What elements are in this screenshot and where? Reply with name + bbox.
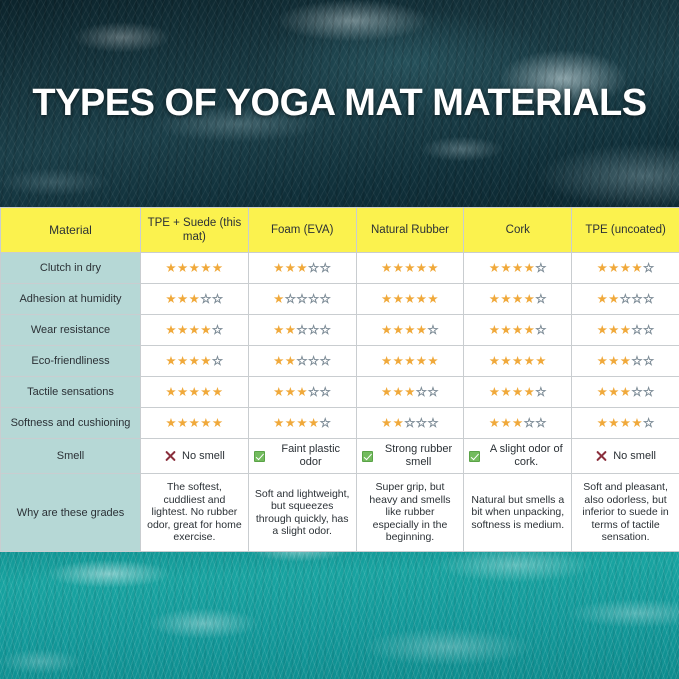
rating-cell-softness-and-cushioning-tpe-suede-this-mat: ★★★★★ (141, 408, 249, 439)
star-4: ☆ (416, 416, 428, 430)
star-2: ★ (500, 323, 512, 337)
star-4: ☆ (416, 385, 428, 399)
star-5: ★ (212, 261, 224, 275)
star-1: ★ (489, 416, 501, 430)
star-rating: ★★★★★ (381, 261, 439, 275)
row-label-softness-and-cushioning: Softness and cushioning (1, 408, 141, 439)
reason-cell-natural-rubber: Super grip, but heavy and smells like ru… (356, 474, 464, 552)
star-rating: ★★☆☆☆ (381, 416, 439, 430)
star-4: ★ (200, 354, 212, 368)
table-row-eco-friendliness: Eco-friendliness★★★★☆★★☆☆☆★★★★★★★★★★★★★☆… (1, 346, 679, 377)
rating-cell-tactile-sensations-natural-rubber: ★★★☆☆ (356, 377, 464, 408)
star-1: ★ (489, 323, 501, 337)
table-body: Clutch in dry★★★★★★★★☆☆★★★★★★★★★☆★★★★☆Ad… (1, 253, 679, 552)
yoga-mat-comparison-table: Material TPE + Suede (this mat) Foam (EV… (0, 207, 679, 552)
star-4: ★ (524, 261, 536, 275)
star-1: ★ (273, 292, 285, 306)
star-rating: ★★★☆☆ (489, 416, 547, 430)
rating-cell-wear-resistance-natural-rubber: ★★★★☆ (356, 315, 464, 346)
star-2: ★ (608, 354, 620, 368)
table-row-smell: SmellNo smellFaint plastic odorStrong ru… (1, 439, 679, 474)
star-4: ★ (524, 354, 536, 368)
star-1: ★ (489, 354, 501, 368)
star-5: ☆ (643, 385, 655, 399)
column-header-cork: Cork (464, 208, 572, 253)
star-1: ★ (165, 354, 177, 368)
table-row-tactile-sensations: Tactile sensations★★★★★★★★☆☆★★★☆☆★★★★☆★★… (1, 377, 679, 408)
star-2: ★ (393, 354, 405, 368)
star-1: ★ (273, 385, 285, 399)
star-3: ★ (189, 261, 201, 275)
star-4: ★ (524, 385, 536, 399)
rating-cell-eco-friendliness-tpe-uncoated: ★★★☆☆ (572, 346, 679, 377)
x-icon (164, 450, 176, 462)
rating-cell-clutch-in-dry-natural-rubber: ★★★★★ (356, 253, 464, 284)
star-2: ★ (608, 261, 620, 275)
star-rating: ★★★★★ (165, 416, 223, 430)
check-icon (469, 451, 480, 462)
rating-cell-tactile-sensations-cork: ★★★★☆ (464, 377, 572, 408)
star-2: ★ (500, 354, 512, 368)
star-1: ★ (597, 416, 609, 430)
star-5: ☆ (643, 354, 655, 368)
star-2: ★ (285, 385, 297, 399)
star-rating: ★★★★★ (381, 292, 439, 306)
star-2: ★ (393, 261, 405, 275)
rating-cell-adhesion-at-humidity-tpe-uncoated: ★★☆☆☆ (572, 284, 679, 315)
star-3: ★ (404, 261, 416, 275)
row-label-why-are-these-grades: Why are these grades (1, 474, 141, 552)
star-rating: ★★☆☆☆ (597, 292, 655, 306)
star-rating: ★★★★☆ (489, 261, 547, 275)
star-rating: ★★★★★ (165, 385, 223, 399)
rating-cell-tactile-sensations-foam-eva: ★★★☆☆ (248, 377, 356, 408)
smell-cell-tpe-uncoated: No smell (572, 439, 679, 474)
star-1: ★ (381, 385, 393, 399)
star-1: ★ (381, 292, 393, 306)
star-3: ★ (620, 323, 632, 337)
rating-cell-clutch-in-dry-foam-eva: ★★★☆☆ (248, 253, 356, 284)
star-4: ☆ (308, 292, 320, 306)
star-rating: ★★☆☆☆ (273, 323, 331, 337)
star-rating: ★★★★☆ (597, 261, 655, 275)
star-3: ★ (620, 416, 632, 430)
star-4: ★ (200, 323, 212, 337)
star-rating: ★★★★☆ (381, 323, 439, 337)
star-5: ☆ (320, 385, 332, 399)
smell-value: Strong rubber smell (360, 443, 461, 469)
star-5: ☆ (535, 323, 547, 337)
star-rating: ★★★★☆ (165, 354, 223, 368)
column-header-tpe-uncoated: TPE (uncoated) (572, 208, 679, 253)
star-4: ☆ (308, 385, 320, 399)
star-2: ★ (500, 292, 512, 306)
star-rating: ★★★★☆ (165, 323, 223, 337)
row-label-clutch-in-dry: Clutch in dry (1, 253, 141, 284)
table-row-adhesion-at-humidity: Adhesion at humidity★★★☆☆★☆☆☆☆★★★★★★★★★☆… (1, 284, 679, 315)
star-3: ★ (620, 261, 632, 275)
star-1: ★ (165, 385, 177, 399)
smell-value: A slight odor of cork. (467, 443, 568, 469)
star-rating: ★★★★☆ (489, 323, 547, 337)
star-3: ★ (512, 292, 524, 306)
column-header-foam-eva: Foam (EVA) (248, 208, 356, 253)
star-2: ★ (608, 292, 620, 306)
star-5: ☆ (427, 385, 439, 399)
star-3: ★ (189, 416, 201, 430)
smell-value: No smell (575, 450, 676, 463)
infographic-page: TYPES OF YOGA MAT MATERIALS Material TPE… (0, 0, 679, 679)
star-3: ★ (404, 354, 416, 368)
star-2: ★ (608, 385, 620, 399)
star-3: ☆ (620, 292, 632, 306)
star-5: ☆ (427, 416, 439, 430)
ocean-bottom-background (0, 533, 679, 679)
star-3: ☆ (296, 323, 308, 337)
star-3: ☆ (404, 416, 416, 430)
star-rating: ★★★☆☆ (597, 323, 655, 337)
star-1: ★ (597, 385, 609, 399)
star-4: ☆ (308, 261, 320, 275)
star-3: ★ (296, 261, 308, 275)
star-5: ☆ (320, 323, 332, 337)
star-4: ★ (416, 292, 428, 306)
page-title: TYPES OF YOGA MAT MATERIALS (0, 82, 679, 124)
star-5: ☆ (535, 416, 547, 430)
star-2: ★ (177, 416, 189, 430)
table-row-clutch-in-dry: Clutch in dry★★★★★★★★☆☆★★★★★★★★★☆★★★★☆ (1, 253, 679, 284)
rating-cell-wear-resistance-tpe-uncoated: ★★★☆☆ (572, 315, 679, 346)
star-rating: ★★★☆☆ (165, 292, 223, 306)
star-4: ★ (200, 261, 212, 275)
star-5: ☆ (643, 261, 655, 275)
rating-cell-adhesion-at-humidity-tpe-suede-this-mat: ★★★☆☆ (141, 284, 249, 315)
star-4: ☆ (631, 292, 643, 306)
smell-text: Faint plastic odor (271, 443, 351, 469)
star-rating: ★★☆☆☆ (273, 354, 331, 368)
reason-cell-tpe-uncoated: Soft and pleasant, also odorless, but in… (572, 474, 679, 552)
star-2: ★ (393, 323, 405, 337)
star-rating: ★★★★★ (381, 354, 439, 368)
star-2: ★ (177, 385, 189, 399)
row-label-wear-resistance: Wear resistance (1, 315, 141, 346)
rating-cell-wear-resistance-foam-eva: ★★☆☆☆ (248, 315, 356, 346)
rating-cell-clutch-in-dry-tpe-uncoated: ★★★★☆ (572, 253, 679, 284)
star-5: ★ (427, 354, 439, 368)
star-2: ★ (608, 323, 620, 337)
smell-cell-tpe-suede-this-mat: No smell (141, 439, 249, 474)
star-2: ★ (285, 261, 297, 275)
star-1: ★ (165, 323, 177, 337)
star-2: ★ (393, 416, 405, 430)
smell-value: No smell (144, 450, 245, 463)
check-icon (254, 451, 265, 462)
table-row-wear-resistance: Wear resistance★★★★☆★★☆☆☆★★★★☆★★★★☆★★★☆☆ (1, 315, 679, 346)
star-2: ★ (177, 323, 189, 337)
rating-cell-softness-and-cushioning-tpe-uncoated: ★★★★☆ (572, 408, 679, 439)
star-rating: ★★★★★ (165, 261, 223, 275)
check-icon (362, 451, 373, 462)
star-4: ☆ (200, 292, 212, 306)
star-1: ★ (273, 416, 285, 430)
smell-text: No smell (613, 450, 656, 463)
reason-cell-foam-eva: Soft and lightweight, but squeezes throu… (248, 474, 356, 552)
table-header: Material TPE + Suede (this mat) Foam (EV… (1, 208, 679, 253)
star-3: ★ (404, 385, 416, 399)
star-3: ★ (512, 261, 524, 275)
star-rating: ★★★★☆ (597, 416, 655, 430)
star-5: ☆ (535, 385, 547, 399)
star-rating: ★☆☆☆☆ (273, 292, 331, 306)
star-5: ★ (535, 354, 547, 368)
star-1: ★ (489, 385, 501, 399)
star-2: ★ (177, 292, 189, 306)
star-rating: ★★★★☆ (489, 292, 547, 306)
star-4: ★ (200, 385, 212, 399)
star-1: ★ (597, 261, 609, 275)
star-1: ★ (597, 323, 609, 337)
smell-text: No smell (182, 450, 225, 463)
star-1: ★ (273, 354, 285, 368)
star-1: ★ (165, 292, 177, 306)
star-1: ★ (381, 323, 393, 337)
star-rating: ★★★☆☆ (273, 385, 331, 399)
star-3: ★ (404, 292, 416, 306)
star-rating: ★★★★★ (489, 354, 547, 368)
star-1: ★ (165, 416, 177, 430)
star-3: ★ (512, 416, 524, 430)
star-2: ★ (393, 385, 405, 399)
star-3: ★ (189, 354, 201, 368)
rating-cell-tactile-sensations-tpe-suede-this-mat: ★★★★★ (141, 377, 249, 408)
star-1: ★ (489, 261, 501, 275)
row-label-tactile-sensations: Tactile sensations (1, 377, 141, 408)
star-5: ★ (427, 292, 439, 306)
star-2: ★ (608, 416, 620, 430)
star-1: ★ (273, 323, 285, 337)
star-2: ★ (500, 261, 512, 275)
column-header-natural-rubber: Natural Rubber (356, 208, 464, 253)
star-3: ★ (189, 385, 201, 399)
star-5: ☆ (212, 323, 224, 337)
rating-cell-wear-resistance-tpe-suede-this-mat: ★★★★☆ (141, 315, 249, 346)
x-icon (595, 450, 607, 462)
rating-cell-adhesion-at-humidity-foam-eva: ★☆☆☆☆ (248, 284, 356, 315)
rating-cell-eco-friendliness-cork: ★★★★★ (464, 346, 572, 377)
star-4: ★ (416, 354, 428, 368)
column-header-material: Material (1, 208, 141, 253)
star-4: ★ (524, 323, 536, 337)
star-4: ☆ (631, 354, 643, 368)
star-4: ★ (416, 323, 428, 337)
rating-cell-adhesion-at-humidity-cork: ★★★★☆ (464, 284, 572, 315)
star-2: ★ (177, 354, 189, 368)
star-4: ★ (631, 261, 643, 275)
smell-text: A slight odor of cork. (486, 443, 566, 469)
rating-cell-softness-and-cushioning-foam-eva: ★★★★☆ (248, 408, 356, 439)
star-5: ☆ (643, 416, 655, 430)
star-5: ☆ (535, 261, 547, 275)
star-3: ★ (296, 385, 308, 399)
comparison-table-container: Material TPE + Suede (this mat) Foam (EV… (0, 207, 679, 552)
star-5: ☆ (535, 292, 547, 306)
reason-cell-tpe-suede-this-mat: The softest, cuddliest and lightest. No … (141, 474, 249, 552)
row-label-smell: Smell (1, 439, 141, 474)
star-3: ★ (620, 385, 632, 399)
star-1: ★ (381, 354, 393, 368)
rating-cell-wear-resistance-cork: ★★★★☆ (464, 315, 572, 346)
rating-cell-tactile-sensations-tpe-uncoated: ★★★☆☆ (572, 377, 679, 408)
table-row-softness-and-cushioning: Softness and cushioning★★★★★★★★★☆★★☆☆☆★★… (1, 408, 679, 439)
star-1: ★ (597, 292, 609, 306)
star-4: ☆ (524, 416, 536, 430)
row-label-adhesion-at-humidity: Adhesion at humidity (1, 284, 141, 315)
star-3: ★ (512, 354, 524, 368)
rating-cell-eco-friendliness-foam-eva: ★★☆☆☆ (248, 346, 356, 377)
table-row-why-these-grades: Why are these gradesThe softest, cuddlie… (1, 474, 679, 552)
star-1: ★ (381, 261, 393, 275)
rating-cell-eco-friendliness-natural-rubber: ★★★★★ (356, 346, 464, 377)
rating-cell-adhesion-at-humidity-natural-rubber: ★★★★★ (356, 284, 464, 315)
star-2: ★ (285, 354, 297, 368)
star-3: ★ (296, 416, 308, 430)
star-4: ★ (308, 416, 320, 430)
star-4: ☆ (308, 354, 320, 368)
star-4: ★ (524, 292, 536, 306)
star-rating: ★★★☆☆ (381, 385, 439, 399)
header-row: Material TPE + Suede (this mat) Foam (EV… (1, 208, 679, 253)
star-3: ★ (512, 385, 524, 399)
star-3: ★ (620, 354, 632, 368)
star-1: ★ (273, 261, 285, 275)
star-5: ☆ (427, 323, 439, 337)
star-2: ★ (393, 292, 405, 306)
star-3: ★ (512, 323, 524, 337)
star-rating: ★★★★☆ (273, 416, 331, 430)
star-5: ☆ (320, 292, 332, 306)
star-1: ★ (165, 261, 177, 275)
star-5: ★ (212, 416, 224, 430)
star-4: ★ (631, 416, 643, 430)
star-rating: ★★★☆☆ (597, 354, 655, 368)
star-3: ★ (189, 323, 201, 337)
star-4: ☆ (631, 385, 643, 399)
star-5: ☆ (320, 261, 332, 275)
star-5: ☆ (320, 416, 332, 430)
star-rating: ★★★☆☆ (597, 385, 655, 399)
rating-cell-clutch-in-dry-tpe-suede-this-mat: ★★★★★ (141, 253, 249, 284)
smell-cell-cork: A slight odor of cork. (464, 439, 572, 474)
row-label-eco-friendliness: Eco-friendliness (1, 346, 141, 377)
reason-cell-cork: Natural but smells a bit when unpacking,… (464, 474, 572, 552)
star-3: ★ (404, 323, 416, 337)
star-3: ☆ (296, 292, 308, 306)
star-rating: ★★★☆☆ (273, 261, 331, 275)
star-2: ★ (285, 416, 297, 430)
star-2: ☆ (285, 292, 297, 306)
star-5: ☆ (320, 354, 332, 368)
star-4: ☆ (308, 323, 320, 337)
rating-cell-clutch-in-dry-cork: ★★★★☆ (464, 253, 572, 284)
star-5: ☆ (643, 323, 655, 337)
star-2: ★ (285, 323, 297, 337)
star-rating: ★★★★☆ (489, 385, 547, 399)
star-1: ★ (381, 416, 393, 430)
smell-value: Faint plastic odor (252, 443, 353, 469)
smell-text: Strong rubber smell (379, 443, 459, 469)
rating-cell-eco-friendliness-tpe-suede-this-mat: ★★★★☆ (141, 346, 249, 377)
star-3: ☆ (296, 354, 308, 368)
star-2: ★ (177, 261, 189, 275)
star-3: ★ (189, 292, 201, 306)
star-5: ★ (427, 261, 439, 275)
star-1: ★ (489, 292, 501, 306)
star-4: ★ (416, 261, 428, 275)
rating-cell-softness-and-cushioning-natural-rubber: ★★☆☆☆ (356, 408, 464, 439)
star-5: ☆ (212, 292, 224, 306)
star-1: ★ (597, 354, 609, 368)
column-header-tpe-suede: TPE + Suede (this mat) (141, 208, 249, 253)
smell-cell-foam-eva: Faint plastic odor (248, 439, 356, 474)
star-4: ★ (200, 416, 212, 430)
star-2: ★ (500, 416, 512, 430)
star-5: ☆ (212, 354, 224, 368)
star-5: ☆ (643, 292, 655, 306)
smell-cell-natural-rubber: Strong rubber smell (356, 439, 464, 474)
star-4: ☆ (631, 323, 643, 337)
rating-cell-softness-and-cushioning-cork: ★★★☆☆ (464, 408, 572, 439)
star-2: ★ (500, 385, 512, 399)
star-5: ★ (212, 385, 224, 399)
